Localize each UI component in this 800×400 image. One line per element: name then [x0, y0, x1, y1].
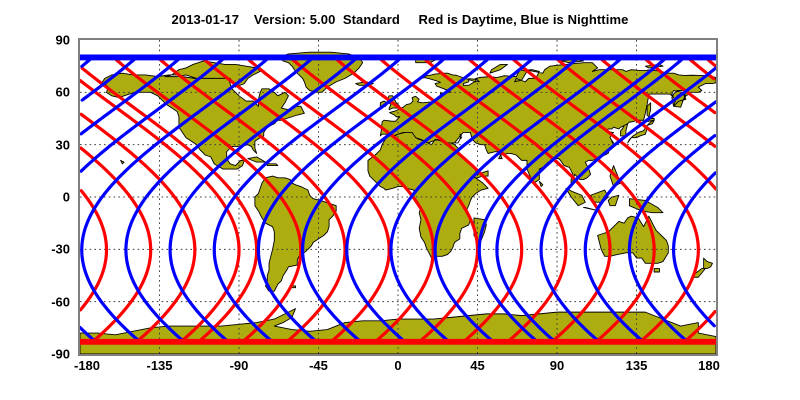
x-tick-label: 180: [698, 358, 720, 373]
x-tick-label: 135: [626, 358, 648, 373]
map-canvas: [80, 40, 716, 354]
x-tick-label: -135: [146, 358, 172, 373]
plot-area: [78, 38, 718, 356]
x-tick-label: -90: [230, 358, 249, 373]
x-tick-label: -45: [309, 358, 328, 373]
y-tick-label: -60: [24, 294, 70, 309]
landmass: [267, 164, 278, 166]
y-tick-label: 0: [24, 190, 70, 205]
plot-frame: [78, 38, 718, 356]
y-tick-label: 30: [24, 137, 70, 152]
sunlight-terminator-map: 2013-01-17 Version: 5.00 Standard Red is…: [0, 0, 800, 400]
y-tick-label: 90: [24, 33, 70, 48]
y-tick-label: 60: [24, 85, 70, 100]
y-tick-label: -30: [24, 242, 70, 257]
landmass: [654, 269, 659, 272]
x-tick-label: 45: [470, 358, 484, 373]
x-tick-label: 0: [394, 358, 401, 373]
x-tick-label: -180: [74, 358, 100, 373]
y-tick-label: -90: [24, 347, 70, 362]
x-tick-label: 90: [550, 358, 564, 373]
